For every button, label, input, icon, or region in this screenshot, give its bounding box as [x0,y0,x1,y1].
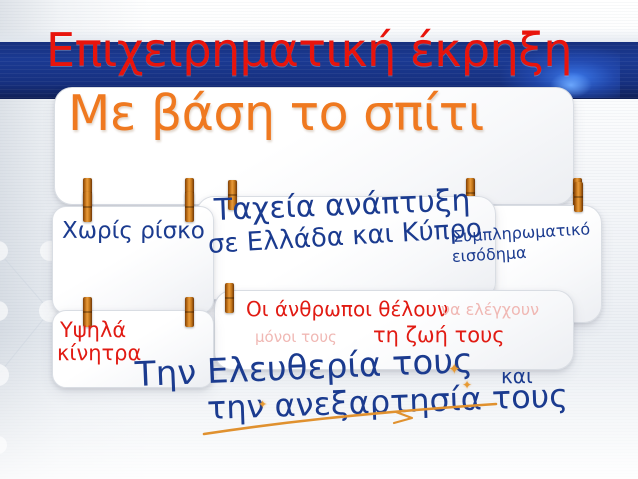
slide-subtitle: Με βάση το σπίτι [68,89,484,139]
card-freedom-label-line2: την ανεξαρτησία τους [206,379,568,424]
pin-screw-icon [574,182,583,212]
card-people-label-fading2: μόνοι τους [255,330,337,345]
card-high-motive-label-line1: Υψηλά [60,320,126,341]
pin-screw-icon [225,283,234,313]
pin-screw-icon [185,297,194,327]
presentation-slide: Επιχειρηματική έκρηξη Με βάση το σπίτι Χ… [0,0,638,479]
card-no-risk-label: Χωρίς ρίσκο [62,220,205,243]
slide-main-title: Επιχειρηματική έκρηξη [46,27,572,74]
card-people-label-fading1: να ελέγχουν [441,302,539,318]
card-extra-income-label-line2: εισόδημα [452,245,527,265]
card-people-label-line1: Οι άνθρωποι θέλουν [246,299,448,319]
card-high-motive-label-line2: κίνητρα [57,343,141,364]
